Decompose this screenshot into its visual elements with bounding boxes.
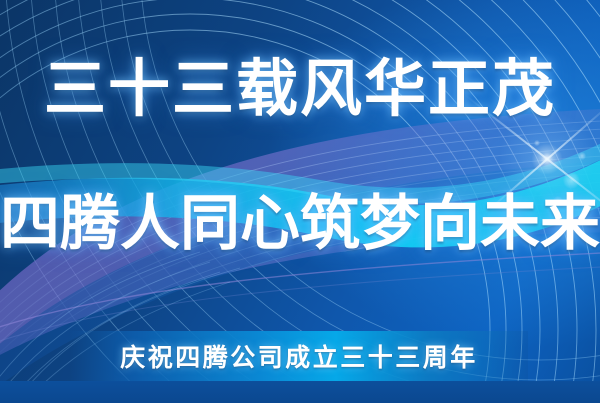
cyan-ribbon-band xyxy=(0,150,600,247)
bokeh-circle-1 xyxy=(563,172,580,189)
bokeh-circle-2 xyxy=(553,196,563,206)
purple-arc-line xyxy=(0,252,600,330)
title-line-1: 三十三载风华正茂 xyxy=(0,57,600,122)
subtitle-banner: 庆祝四腾公司成立三十三周年 xyxy=(70,331,528,381)
anniversary-poster: 三十三载风华正茂 四腾人同心筑梦向未来 庆祝四腾公司成立三十三周年 xyxy=(0,0,600,403)
bottom-plate xyxy=(0,381,600,403)
violet-ribbon-band xyxy=(0,108,600,360)
bokeh-circle-3 xyxy=(578,152,586,160)
subtitle-text: 庆祝四腾公司成立三十三周年 xyxy=(120,338,478,374)
light-flare-starburst xyxy=(492,104,600,214)
title-line-2: 四腾人同心筑梦向未来 xyxy=(0,192,600,255)
cyan-highlight-band xyxy=(0,134,600,204)
bokeh-circle-4 xyxy=(534,140,540,146)
